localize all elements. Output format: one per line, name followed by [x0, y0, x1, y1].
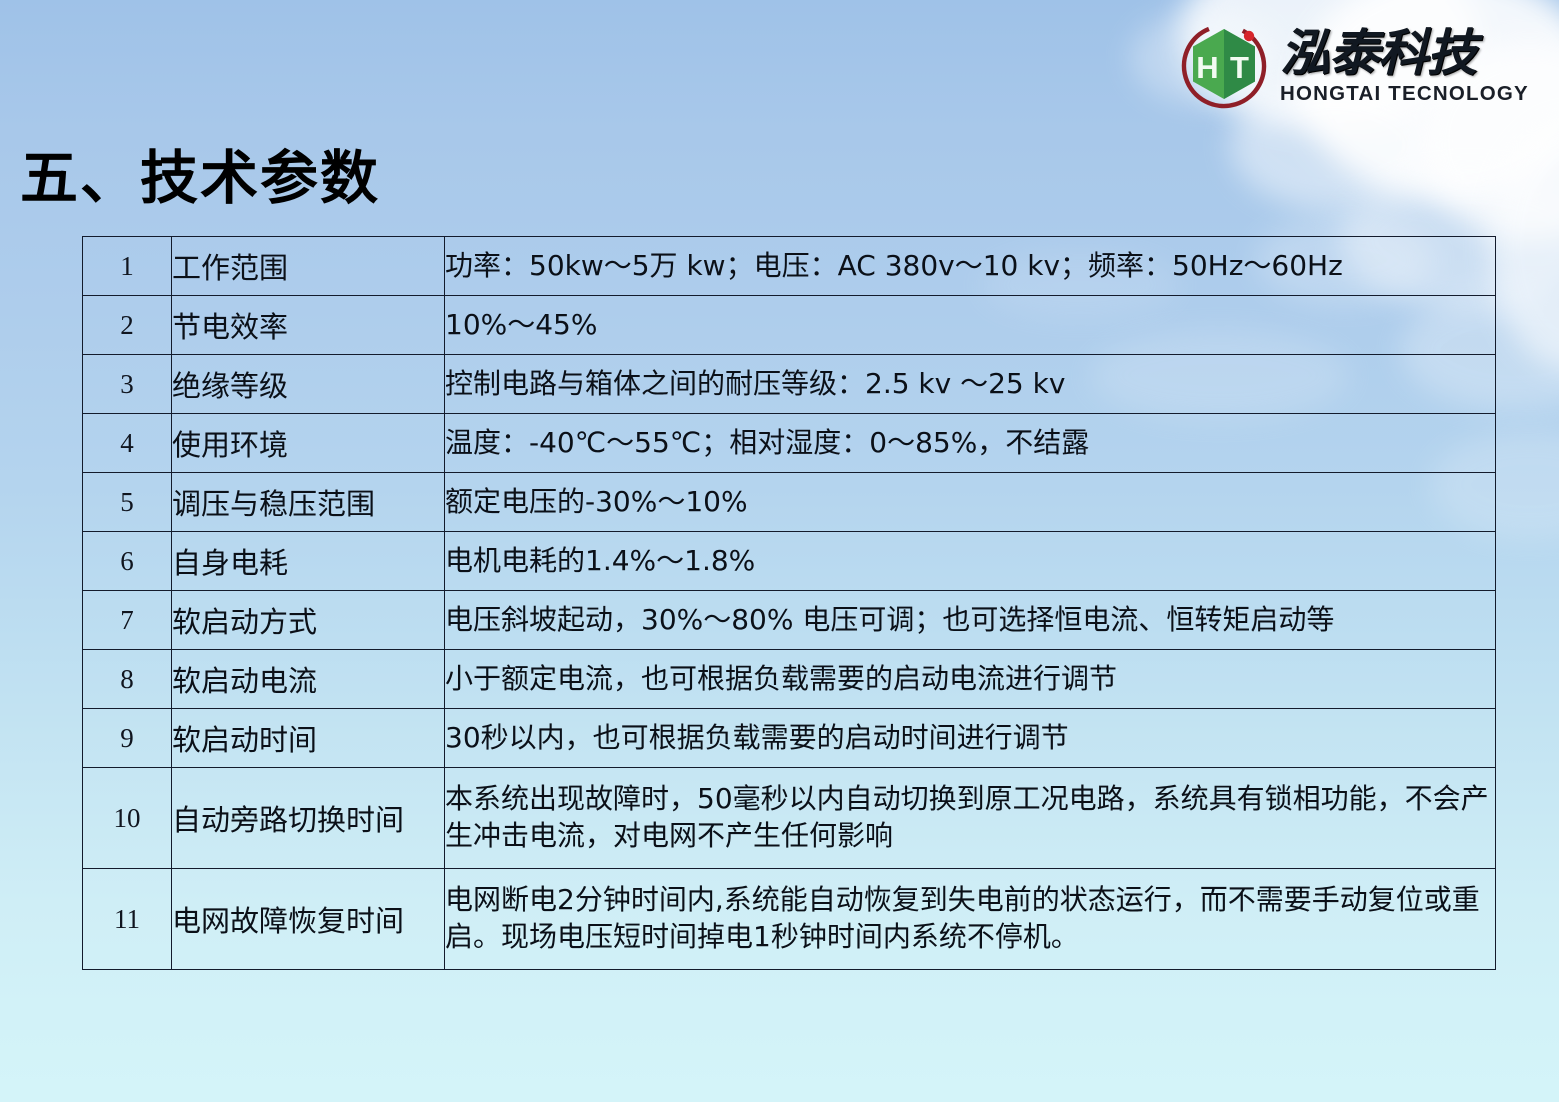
row-label: 工作范围 — [172, 237, 445, 296]
row-index: 8 — [83, 650, 172, 709]
row-label: 使用环境 — [172, 414, 445, 473]
row-index: 3 — [83, 355, 172, 414]
table-row: 6 自身电耗 电机电耗的1.4%～1.8% — [83, 532, 1496, 591]
row-index: 9 — [83, 709, 172, 768]
cloud-shape — [1490, 120, 1559, 370]
row-label: 电网故障恢复时间 — [172, 869, 445, 970]
table-row: 7 软启动方式 电压斜坡起动，30%～80% 电压可调；也可选择恒电流、恒转矩启… — [83, 591, 1496, 650]
table-row: 3 绝缘等级 控制电路与箱体之间的耐压等级：2.5 kv ～25 kv — [83, 355, 1496, 414]
table-row: 4 使用环境 温度：-40℃～55℃；相对湿度：0～85%，不结露 — [83, 414, 1496, 473]
svg-text:H: H — [1196, 50, 1218, 85]
page-title: 五、技术参数 — [20, 131, 380, 215]
row-value: 控制电路与箱体之间的耐压等级：2.5 kv ～25 kv — [445, 355, 1496, 414]
row-index: 6 — [83, 532, 172, 591]
row-label: 节电效率 — [172, 296, 445, 355]
table-row: 8 软启动电流 小于额定电流，也可根据负载需要的启动电流进行调节 — [83, 650, 1496, 709]
row-value: 10%～45% — [445, 296, 1496, 355]
table-row: 9 软启动时间 30秒以内，也可根据负载需要的启动时间进行调节 — [83, 709, 1496, 768]
row-label: 调压与稳压范围 — [172, 473, 445, 532]
row-value: 温度：-40℃～55℃；相对湿度：0～85%，不结露 — [445, 414, 1496, 473]
row-value: 小于额定电流，也可根据负载需要的启动电流进行调节 — [445, 650, 1496, 709]
row-index: 5 — [83, 473, 172, 532]
row-index: 2 — [83, 296, 172, 355]
brand-name-en: HONGTAI TECNOLOGY — [1280, 84, 1529, 105]
row-index: 7 — [83, 591, 172, 650]
row-label: 自身电耗 — [172, 532, 445, 591]
row-label: 软启动电流 — [172, 650, 445, 709]
row-index: 1 — [83, 237, 172, 296]
row-index: 11 — [83, 869, 172, 970]
table-row: 5 调压与稳压范围 额定电压的-30%～10% — [83, 473, 1496, 532]
row-value: 电机电耗的1.4%～1.8% — [445, 532, 1496, 591]
table-row: 11 电网故障恢复时间 电网断电2分钟时间内,系统能自动恢复到失电前的状态运行，… — [83, 869, 1496, 970]
slide-canvas: H T 泓泰科技 HONGTAI TECNOLOGY 五、技术参数 1 工作范围… — [0, 0, 1559, 1102]
row-value: 30秒以内，也可根据负载需要的启动时间进行调节 — [445, 709, 1496, 768]
table-row: 10 自动旁路切换时间 本系统出现故障时，50毫秒以内自动切换到原工况电路，系统… — [83, 768, 1496, 869]
company-logo: H T 泓泰科技 HONGTAI TECNOLOGY — [1178, 16, 1538, 116]
table-row: 1 工作范围 功率：50kw～5万 kw；电压：AC 380v～10 kv；频率… — [83, 237, 1496, 296]
svg-text:T: T — [1230, 50, 1249, 85]
row-label: 软启动方式 — [172, 591, 445, 650]
row-value: 额定电压的-30%～10% — [445, 473, 1496, 532]
technical-parameters-table: 1 工作范围 功率：50kw～5万 kw；电压：AC 380v～10 kv；频率… — [82, 236, 1496, 970]
row-value: 功率：50kw～5万 kw；电压：AC 380v～10 kv；频率：50Hz～6… — [445, 237, 1496, 296]
row-index: 4 — [83, 414, 172, 473]
brand-wordmark: 泓泰科技 HONGTAI TECNOLOGY — [1280, 28, 1529, 105]
row-value: 本系统出现故障时，50毫秒以内自动切换到原工况电路，系统具有锁相功能，不会产生冲… — [445, 768, 1496, 869]
row-label: 绝缘等级 — [172, 355, 445, 414]
row-value: 电网断电2分钟时间内,系统能自动恢复到失电前的状态运行，而不需要手动复位或重启。… — [445, 869, 1496, 970]
hexagon-badge-icon: H T — [1178, 20, 1270, 112]
table-row: 2 节电效率 10%～45% — [83, 296, 1496, 355]
row-label: 软启动时间 — [172, 709, 445, 768]
brand-name-cn: 泓泰科技 — [1280, 28, 1529, 78]
row-index: 10 — [83, 768, 172, 869]
row-label: 自动旁路切换时间 — [172, 768, 445, 869]
row-value: 电压斜坡起动，30%～80% 电压可调；也可选择恒电流、恒转矩启动等 — [445, 591, 1496, 650]
